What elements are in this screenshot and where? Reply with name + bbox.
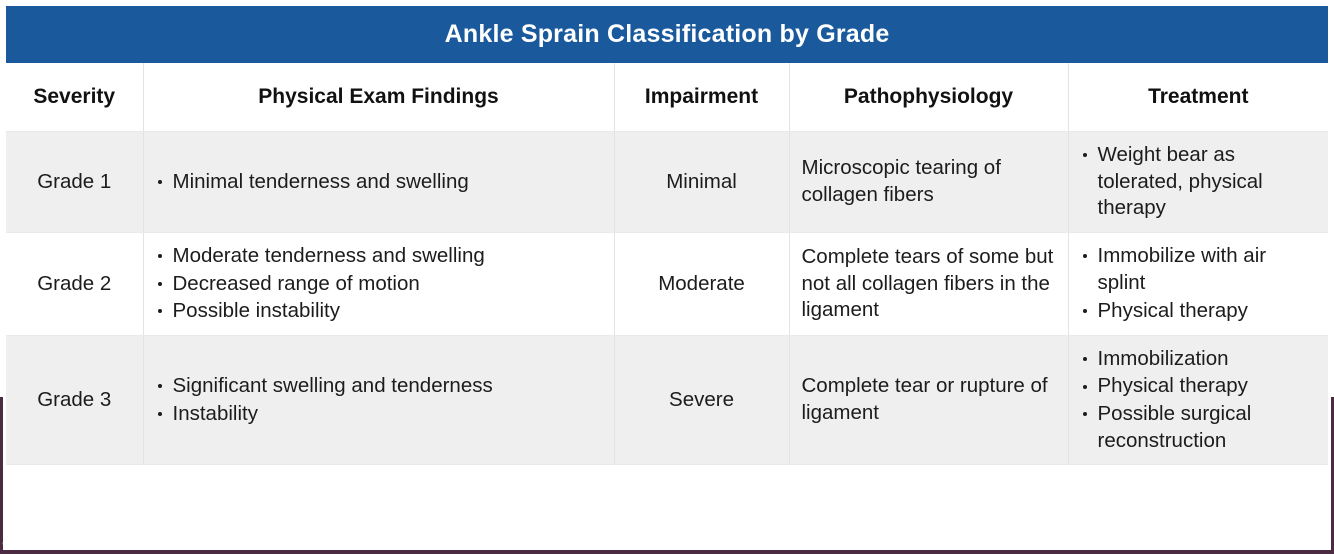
cell-treatment-grade-1: Weight bear as tolerated, physical thera… <box>1068 132 1328 233</box>
bullet-dot-icon <box>158 384 162 388</box>
findings-list-grade-1: Minimal tenderness and swelling <box>156 169 602 196</box>
pathophysiology-text: Microscopic tearing of collagen fibers <box>802 155 1056 208</box>
findings-list-grade-3: Significant swelling and tenderness Inst… <box>156 373 602 427</box>
bullet-dot-icon <box>1083 357 1087 361</box>
bullet-dot-icon <box>158 282 162 286</box>
table-body: Grade 1 Minimal tenderness and swelling … <box>6 132 1328 465</box>
treatment-list-grade-3: Immobilization Physical therapy Possible… <box>1081 346 1317 455</box>
bullet-dot-icon <box>1083 153 1087 157</box>
treatment-list-grade-1: Weight bear as tolerated, physical thera… <box>1081 142 1317 222</box>
cell-impairment-grade-3: Severe <box>614 335 789 465</box>
list-item-label: Immobilization <box>1098 347 1229 370</box>
list-item-label: Weight bear as tolerated, physical thera… <box>1098 143 1263 219</box>
bullet-dot-icon <box>158 412 162 416</box>
list-item: Immobilize with air splint <box>1081 243 1317 296</box>
cell-treatment-grade-2: Immobilize with air splint Physical ther… <box>1068 232 1328 335</box>
list-item: Significant swelling and tenderness <box>156 373 602 400</box>
list-item: Possible instability <box>156 298 602 325</box>
table-row-grade-1: Grade 1 Minimal tenderness and swelling … <box>6 132 1328 233</box>
cell-findings-grade-3: Significant swelling and tenderness Inst… <box>143 335 614 465</box>
cell-pathophysiology-grade-1: Microscopic tearing of collagen fibers <box>789 132 1068 233</box>
cell-severity-grade-3: Grade 3 <box>6 335 143 465</box>
cell-pathophysiology-grade-2: Complete tears of some but not all colla… <box>789 232 1068 335</box>
bullet-dot-icon <box>1083 385 1087 389</box>
ankle-sprain-classification-table: Ankle Sprain Classification by Grade Sev… <box>6 6 1328 465</box>
list-item: Physical therapy <box>1081 298 1317 325</box>
table-title: Ankle Sprain Classification by Grade <box>6 6 1328 63</box>
bullet-dot-icon <box>1083 412 1087 416</box>
list-item: Moderate tenderness and swelling <box>156 243 602 270</box>
cell-impairment-grade-2: Moderate <box>614 232 789 335</box>
column-header-impairment: Impairment <box>614 63 789 132</box>
bullet-dot-icon <box>1083 254 1087 258</box>
findings-list-grade-2: Moderate tenderness and swelling Decreas… <box>156 243 602 325</box>
column-header-treatment: Treatment <box>1068 63 1328 132</box>
file-name-caption: a.png <box>2 535 46 551</box>
list-item: Physical therapy <box>1081 373 1317 400</box>
list-item-label: Significant swelling and tenderness <box>173 374 493 397</box>
cell-severity-grade-1: Grade 1 <box>6 132 143 233</box>
list-item: Weight bear as tolerated, physical thera… <box>1081 142 1317 222</box>
cell-treatment-grade-3: Immobilization Physical therapy Possible… <box>1068 335 1328 465</box>
screenshot-root: Ankle Sprain Classification by Grade Sev… <box>0 0 1334 554</box>
column-header-findings: Physical Exam Findings <box>143 63 614 132</box>
table-header-row: Severity Physical Exam Findings Impairme… <box>6 63 1328 132</box>
cell-severity-grade-2: Grade 2 <box>6 232 143 335</box>
list-item: Instability <box>156 401 602 428</box>
list-item: Immobilization <box>1081 346 1317 373</box>
cell-findings-grade-1: Minimal tenderness and swelling <box>143 132 614 233</box>
treatment-list-grade-2: Immobilize with air splint Physical ther… <box>1081 243 1317 324</box>
list-item-label: Physical therapy <box>1098 374 1248 397</box>
table-row-grade-2: Grade 2 Moderate tenderness and swelling… <box>6 232 1328 335</box>
list-item: Possible surgical reconstruction <box>1081 401 1317 454</box>
list-item-label: Immobilize with air splint <box>1098 244 1267 294</box>
cell-impairment-grade-1: Minimal <box>614 132 789 233</box>
table-title-row: Ankle Sprain Classification by Grade <box>6 6 1328 63</box>
list-item: Decreased range of motion <box>156 271 602 298</box>
bullet-dot-icon <box>158 254 162 258</box>
cell-pathophysiology-grade-3: Complete tear or rupture of ligament <box>789 335 1068 465</box>
column-header-severity: Severity <box>6 63 143 132</box>
list-item-label: Decreased range of motion <box>173 272 420 295</box>
table-container: Ankle Sprain Classification by Grade Sev… <box>6 6 1328 465</box>
list-item-label: Physical therapy <box>1098 299 1248 322</box>
bullet-dot-icon <box>158 180 162 184</box>
table-row-grade-3: Grade 3 Significant swelling and tendern… <box>6 335 1328 465</box>
cell-findings-grade-2: Moderate tenderness and swelling Decreas… <box>143 232 614 335</box>
column-header-patho: Pathophysiology <box>789 63 1068 132</box>
bullet-dot-icon <box>1083 309 1087 313</box>
list-item: Minimal tenderness and swelling <box>156 169 602 196</box>
list-item-label: Possible instability <box>173 299 341 322</box>
list-item-label: Moderate tenderness and swelling <box>173 244 485 267</box>
list-item-label: Instability <box>173 402 258 425</box>
list-item-label: Possible surgical reconstruction <box>1098 402 1252 452</box>
pathophysiology-text: Complete tear or rupture of ligament <box>802 373 1056 426</box>
pathophysiology-text: Complete tears of some but not all colla… <box>802 244 1056 324</box>
list-item-label: Minimal tenderness and swelling <box>173 170 469 193</box>
bullet-dot-icon <box>158 309 162 313</box>
